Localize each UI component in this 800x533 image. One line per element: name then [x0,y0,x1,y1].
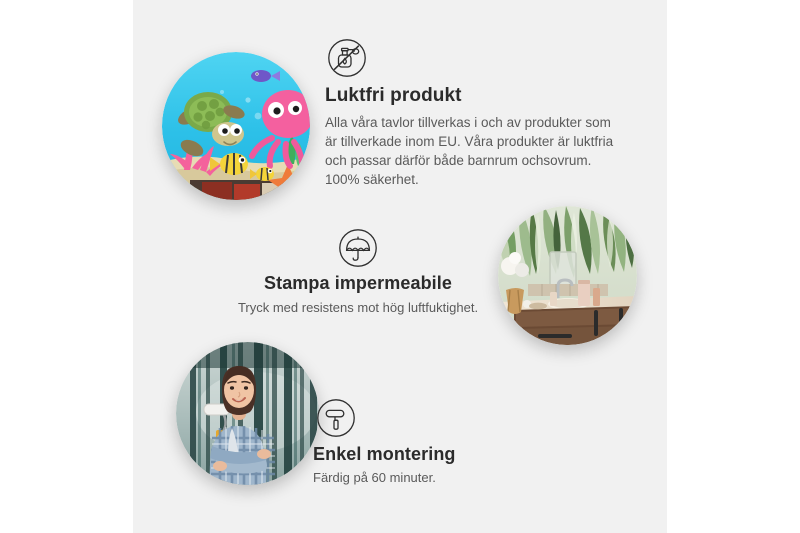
promo-graphic: Luktfri produkt Alla våra tavlor tillver… [0,0,800,533]
feature-block-odour-free: Luktfri produkt Alla våra tavlor tillver… [325,38,625,189]
feature-title: Luktfri produkt [325,84,625,108]
content-panel: Luktfri produkt Alla våra tavlor tillver… [133,0,667,533]
feature-title: Stampa impermeabile [193,272,523,295]
umbrella-icon [338,228,378,268]
paint-roller-icon [316,398,356,438]
feature-body: Alla våra tavlor tillverkas i och av pro… [325,113,625,190]
no-perfume-icon [327,38,367,78]
feature-block-waterproof: Stampa impermeabile Tryck med resistens … [193,228,523,317]
feature-image-underwater [162,52,310,200]
feature-body: Färdig på 60 minuter. [313,469,573,487]
feature-block-easy-mounting: Enkel montering Färdig på 60 minuter. [313,398,573,487]
feature-body: Tryck med resistens mot hög luftfuktighe… [193,299,523,317]
feature-title: Enkel montering [313,443,573,466]
feature-image-installer [176,342,319,485]
